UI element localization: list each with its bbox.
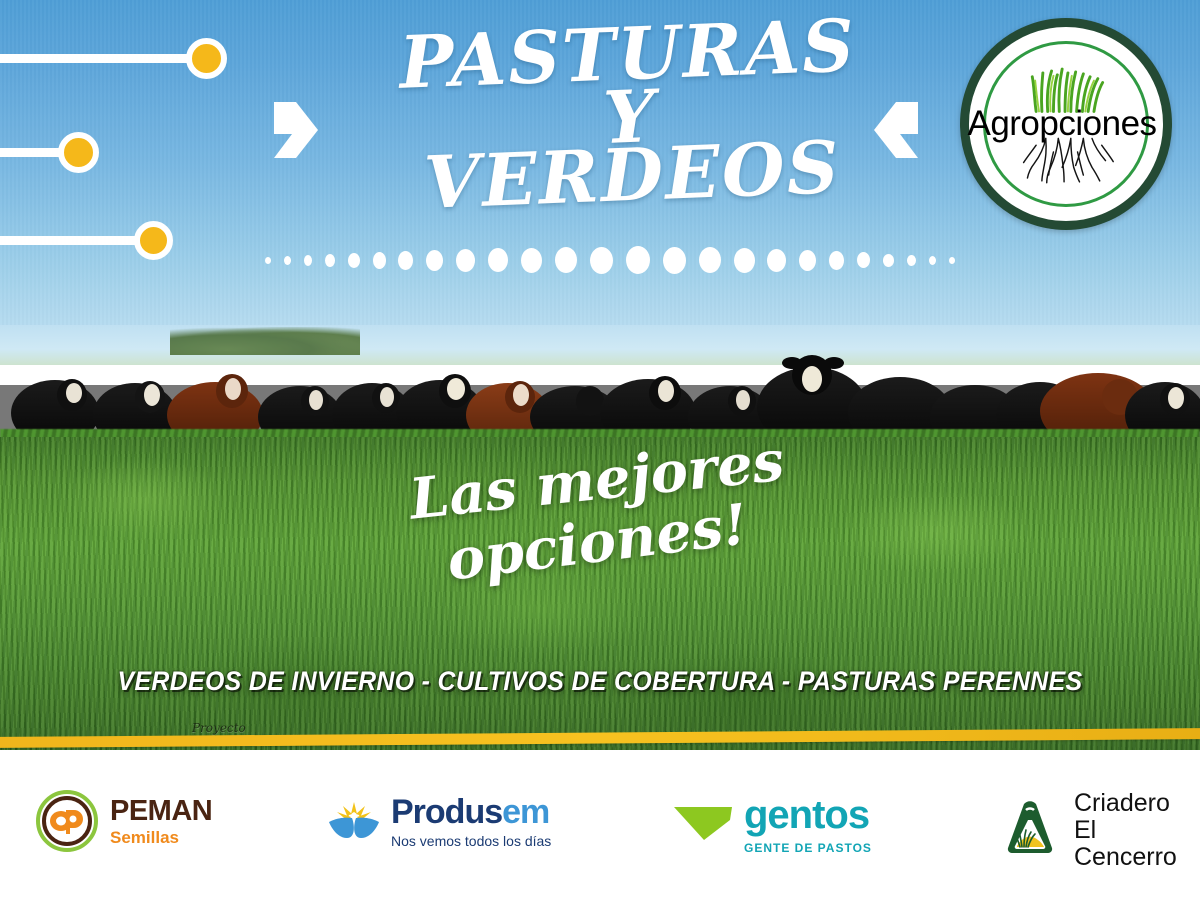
produsem-name-a: Produs (391, 793, 502, 831)
peman-op-icon (36, 790, 98, 852)
peman-tagline: Semillas (110, 829, 212, 846)
peman-text: PEMAN Semillas (110, 797, 212, 846)
logo-wordmark: Agropciones (967, 104, 1156, 144)
gentos-text: gentos GENTE DE PASTOS (744, 795, 872, 855)
gentos-name: gentos (744, 795, 872, 835)
gentos-triangle-icon (672, 804, 734, 847)
poster-title: PASTURAS Y VERDEOS (367, 12, 894, 216)
decor-dot-2 (58, 132, 99, 173)
sponsor-gentos[interactable]: gentos GENTE DE PASTOS (672, 795, 872, 855)
gentos-tagline: GENTE DE PASTOS (744, 841, 872, 855)
decor-line-1 (0, 54, 202, 63)
poster-root: PASTURAS Y VERDEOS (0, 0, 1200, 900)
produsem-leaf-sun-icon (325, 792, 383, 851)
cencerro-text: Criadero El Cencerro (1074, 790, 1200, 871)
sponsor-peman[interactable]: PEMAN Semillas (36, 790, 212, 852)
sponsor-cencerro[interactable]: Criadero El Cencerro (998, 790, 1200, 871)
poster-subtitle: VERDEOS DE INVIERNO - CULTIVOS DE COBERT… (48, 666, 1152, 697)
decor-line-3 (0, 236, 150, 245)
produsem-tagline: Nos vemos todos los días (391, 834, 551, 848)
decor-dot-row (265, 246, 955, 274)
decor-dot-3 (134, 221, 173, 260)
decor-dot-1 (186, 38, 227, 79)
cencerro-name-line-1: Criadero (1074, 790, 1200, 817)
logo-inner-ring: Agropciones (983, 41, 1149, 207)
cencerro-bell-icon (998, 796, 1062, 865)
agropciones-logo[interactable]: Agropciones (960, 18, 1172, 230)
produsem-name: Produsem (391, 795, 551, 829)
produsem-name-b: em (502, 793, 549, 831)
produsem-text: Produsem Nos vemos todos los días (391, 795, 551, 848)
cencerro-name-line-2: El Cencerro (1074, 817, 1200, 871)
chevron-right-icon (272, 100, 320, 165)
title-line-2: VERDEOS (371, 133, 893, 216)
sponsor-produsem[interactable]: Produsem Nos vemos todos los días (325, 792, 551, 851)
proyecto-watermark: Proyecto (192, 721, 246, 735)
peman-name: PEMAN (110, 797, 212, 826)
